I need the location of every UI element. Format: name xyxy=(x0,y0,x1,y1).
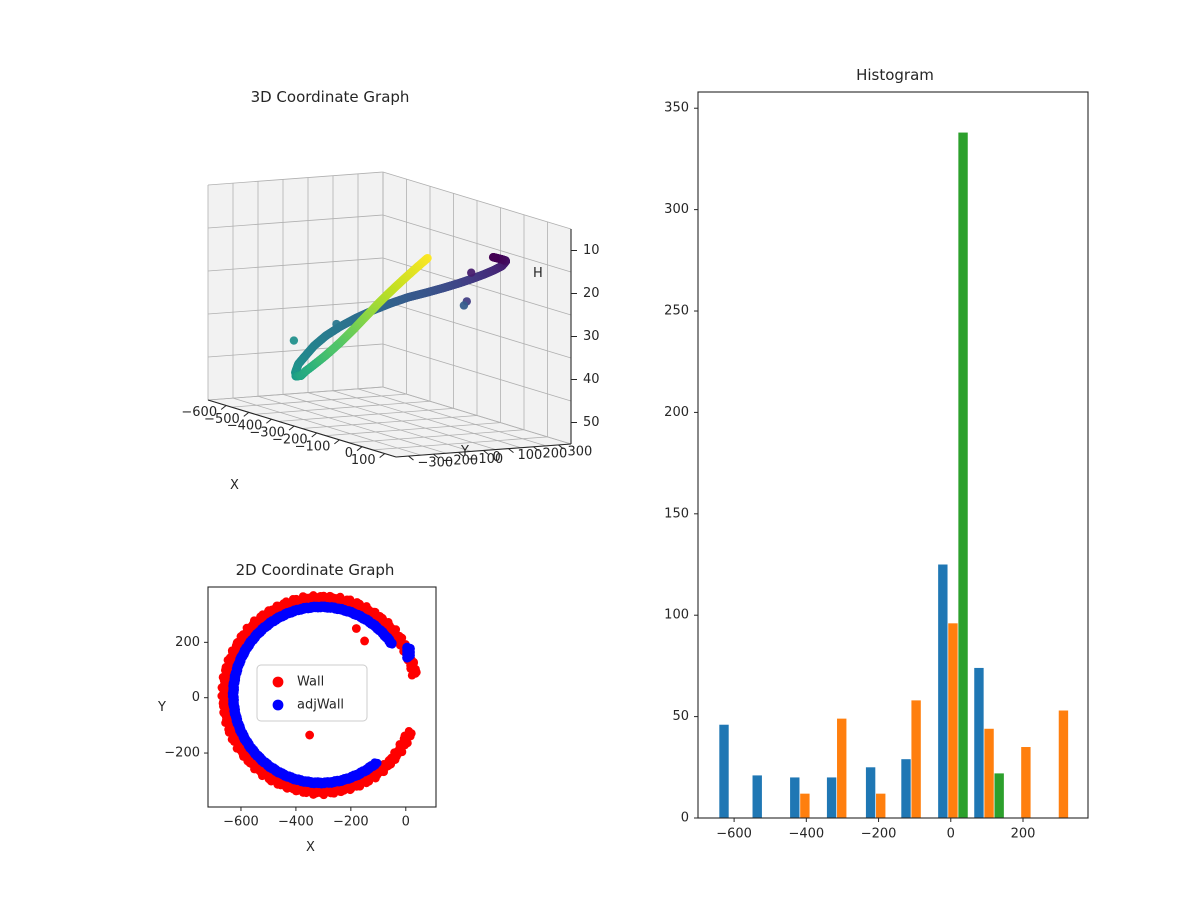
plot2d-canvas: −600−400−2000−2000200WalladjWall xyxy=(150,555,480,865)
histogram-bar-series-3-12 xyxy=(958,133,967,818)
panel-histogram: Histogram −600−400−200020005010015020025… xyxy=(640,60,1110,850)
panel-2d-coordinate-graph: 2D Coordinate Graph −600−400−2000−200020… xyxy=(150,555,480,865)
legend-label-wall: Wall xyxy=(297,675,324,690)
histogram-xtick-label: −200 xyxy=(861,827,897,842)
legend-marker-wall xyxy=(273,677,284,688)
wall-point xyxy=(219,690,227,698)
x-tick xyxy=(221,405,226,409)
plot3d-xaxis-label: X xyxy=(230,478,239,493)
legend-box xyxy=(257,665,367,721)
plot2d-ytick-label: 0 xyxy=(192,690,200,705)
histogram-bar-series-2-5 xyxy=(837,719,846,818)
plot3d-panes xyxy=(208,172,571,457)
legend-marker-adjwall xyxy=(273,700,284,711)
histogram-bar-series-2-9 xyxy=(911,700,920,818)
plot3d-ztick-label: 50 xyxy=(583,415,600,430)
adjwall-point xyxy=(373,759,381,767)
histogram-bar-series-1-2 xyxy=(790,777,799,818)
plot3d-outlier-point xyxy=(290,336,298,344)
histogram-xtick-label: −600 xyxy=(716,827,752,842)
histogram-title: Histogram xyxy=(660,66,1130,84)
plot3d-point xyxy=(329,345,337,353)
histogram-ytick-label: 350 xyxy=(664,101,689,116)
plot2d-xtick-label: −200 xyxy=(333,815,369,830)
histogram-canvas: −600−400−2000200050100150200250300350 xyxy=(640,60,1110,850)
histogram-frame xyxy=(698,92,1088,818)
plot3d-ztick-label: 20 xyxy=(583,286,600,301)
plot2d-ytick-label: −200 xyxy=(164,746,200,761)
plot3d-zaxis-label: H xyxy=(533,266,543,281)
x-tick xyxy=(357,447,362,451)
plot2d-yaxis-label: Y xyxy=(158,700,166,715)
plot3d-outlier-point xyxy=(467,268,475,276)
histogram-bar-series-2-3 xyxy=(800,794,809,818)
plot3d-xtick-label: −100 xyxy=(295,439,331,454)
histogram-ytick-label: 150 xyxy=(664,506,689,521)
histogram-bar-series-2-7 xyxy=(876,794,885,818)
histogram-xtick-label: 200 xyxy=(1011,827,1036,842)
histogram-bar-series-1-8 xyxy=(901,759,910,818)
plot2d-legend[interactable]: WalladjWall xyxy=(257,665,367,721)
plot3d-outlier-point xyxy=(332,320,340,328)
panel-3d-coordinate-graph: 3D Coordinate Graph −600−500−400−300−200… xyxy=(90,80,570,520)
histogram-bar-series-1-4 xyxy=(827,777,836,818)
histogram-ytick-label: 0 xyxy=(681,811,689,826)
wall-point xyxy=(405,727,413,735)
wall-outlier-point xyxy=(352,624,361,633)
y-tick xyxy=(409,456,414,460)
y-tick xyxy=(509,449,514,453)
plot2d-title: 2D Coordinate Graph xyxy=(150,561,480,579)
histogram-ytick-label: 100 xyxy=(664,608,689,623)
histogram-xtick-label: −400 xyxy=(788,827,824,842)
histogram-bar-series-1-6 xyxy=(866,767,875,818)
adjwall-cluster-point xyxy=(402,643,412,653)
legend-label-adjwall: adjWall xyxy=(297,698,344,713)
matplotlib-figure: 3D Coordinate Graph −600−500−400−300−200… xyxy=(0,0,1200,900)
plot2d-xaxis-label: X xyxy=(306,840,315,855)
histogram-bar-series-1-10 xyxy=(938,565,947,818)
histogram-bar-series-2-14 xyxy=(984,729,993,818)
histogram-bar-series-2-16 xyxy=(1021,747,1030,818)
x-tick xyxy=(244,412,249,416)
histogram-bar-series-3-15 xyxy=(994,773,1003,818)
wall-outlier-point xyxy=(305,731,314,740)
histogram-bar-series-1-1 xyxy=(753,775,762,818)
plot3d-ytick-label: 300 xyxy=(568,444,593,459)
plot3d-ztick-label: 30 xyxy=(583,329,600,344)
plot2d-xtick-label: −600 xyxy=(223,815,259,830)
plot3d-ztick-label: 40 xyxy=(583,372,600,387)
plot2d-xtick-label: 0 xyxy=(402,815,410,830)
plot3d-point xyxy=(489,253,497,261)
plot2d-xtick-label: −400 xyxy=(278,815,314,830)
plot3d-xtick-label: 100 xyxy=(351,453,376,468)
histogram-xtick-label: 0 xyxy=(947,827,955,842)
histogram-ytick-label: 50 xyxy=(672,709,689,724)
histogram-ytick-label: 250 xyxy=(664,304,689,319)
histogram-bar-series-2-11 xyxy=(948,623,957,818)
x-tick xyxy=(289,426,294,430)
plot3d-canvas: −600−500−400−300−200−1000100−300−200−100… xyxy=(90,80,570,520)
histogram-bar-series-2-17 xyxy=(1059,711,1068,818)
plot2d-ytick-label: 200 xyxy=(175,635,200,650)
plot3d-yaxis-label: Y xyxy=(461,444,469,459)
plot3d-outlier-point xyxy=(460,301,468,309)
histogram-ytick-label: 300 xyxy=(664,202,689,217)
histogram-bar-series-1-13 xyxy=(974,668,983,818)
plot3d-ytick-label: 0 xyxy=(493,450,501,465)
x-tick xyxy=(312,433,317,437)
x-tick xyxy=(266,419,271,423)
wall-outlier-point xyxy=(360,637,369,646)
plot3d-ztick-label: 10 xyxy=(583,243,600,258)
plot3d-title: 3D Coordinate Graph xyxy=(90,88,570,106)
histogram-bar-series-1-0 xyxy=(719,725,728,818)
x-tick xyxy=(380,454,385,458)
x-tick xyxy=(334,440,339,444)
histogram-bars xyxy=(719,133,1068,818)
histogram-ytick-label: 200 xyxy=(664,405,689,420)
